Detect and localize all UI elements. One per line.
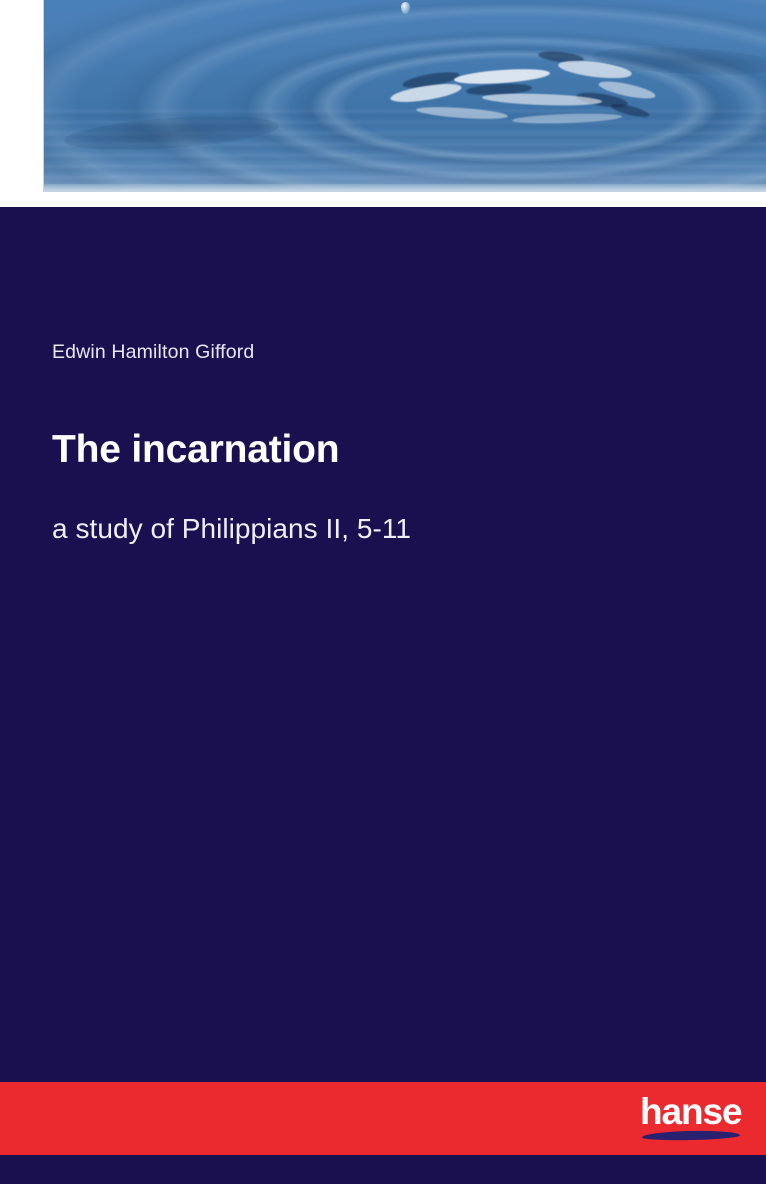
cover-banner-area (0, 0, 766, 207)
publisher-logo-wordmark: hanse (640, 1093, 741, 1130)
splash-highlight (557, 58, 632, 82)
splash-crown (362, 48, 682, 140)
water-droplet-photo (44, 0, 766, 191)
author-name: Edwin Hamilton Gifford (52, 340, 712, 365)
publisher-logo: hanse (640, 1093, 744, 1149)
cover-main-field (0, 207, 766, 1082)
book-subtitle: a study of Philippians II, 5-11 (52, 511, 712, 546)
book-title: The incarnation (52, 427, 712, 473)
photo-bottom-edge (44, 184, 766, 191)
book-cover: Edwin Hamilton Gifford The incarnation a… (0, 0, 766, 1184)
footer-navy-strip (0, 1155, 766, 1184)
splash-highlight (512, 112, 622, 125)
cover-text-block: Edwin Hamilton Gifford The incarnation a… (52, 340, 712, 546)
splash-highlight (416, 105, 508, 121)
